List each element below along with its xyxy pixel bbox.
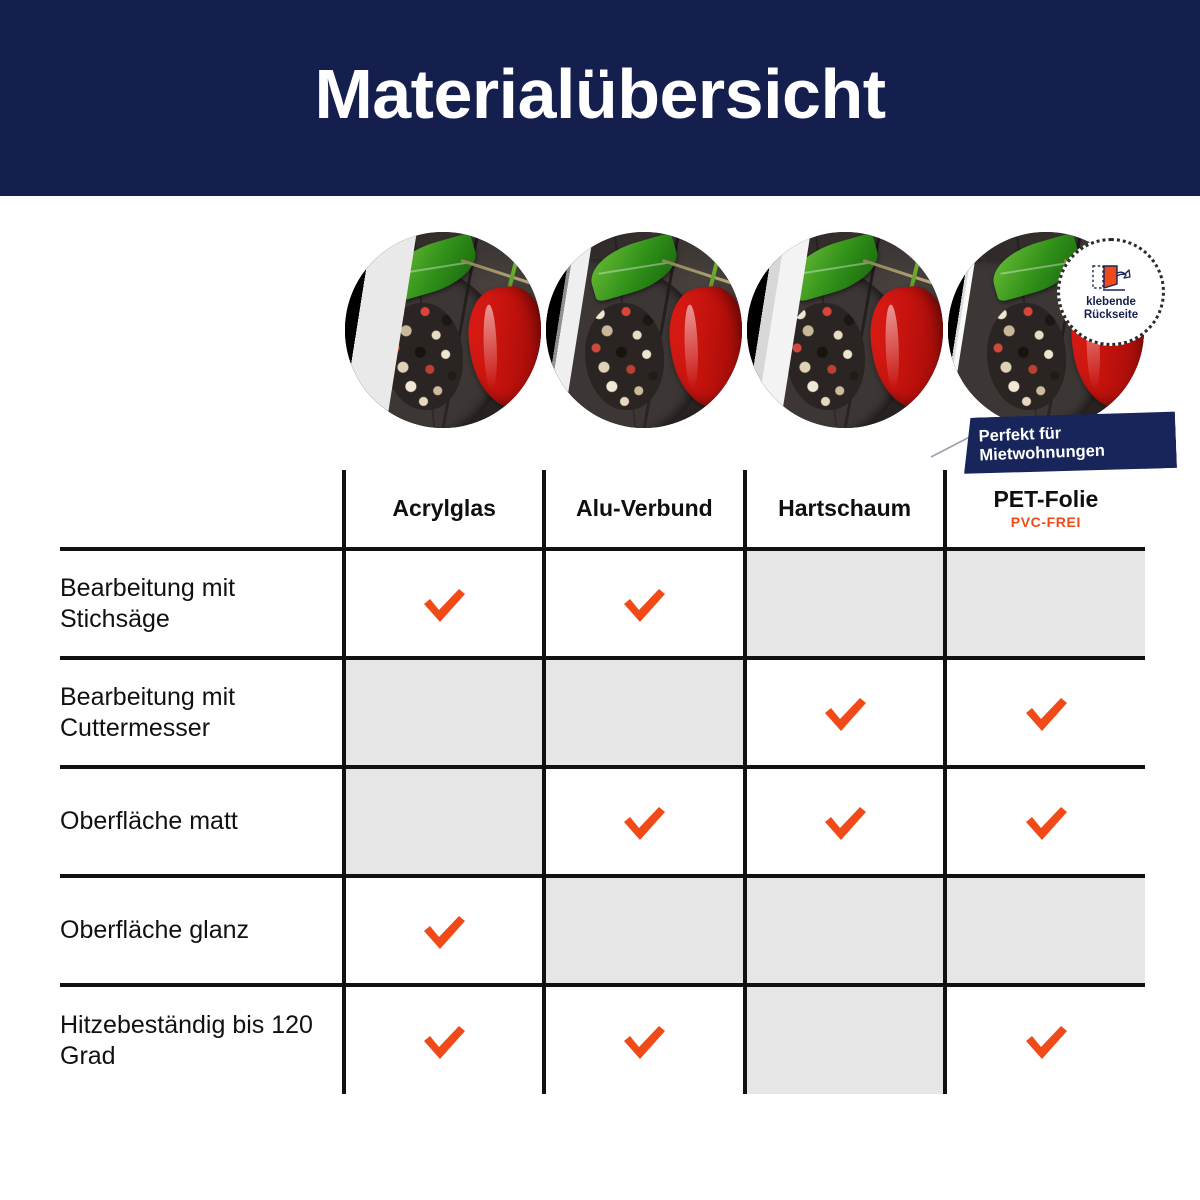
row-label: Oberfläche matt: [60, 767, 344, 876]
cell-acrylglas-row-1: [344, 549, 544, 658]
checkmark-icon: [420, 1021, 468, 1061]
badge-adhesive-line1: klebende: [1086, 296, 1136, 308]
cell-alu-verbund-row-3: [544, 767, 744, 876]
cell-alu-verbund-row-4: [544, 876, 744, 985]
row-label: Oberfläche glanz: [60, 876, 344, 985]
cell-alu-verbund-row-5: [544, 985, 744, 1094]
cell-acrylglas-row-5: [344, 985, 544, 1094]
cell-hartschaum-row-1: [745, 549, 945, 658]
cell-pet-folie-row-2: [945, 658, 1145, 767]
table-header-row: Acrylglas Alu-Verbund Hartschaum PET-Fol…: [60, 470, 1145, 549]
column-title: Acrylglas: [346, 496, 542, 520]
cell-acrylglas-row-4: [344, 876, 544, 985]
row-label: Bearbeitung mit Stichsäge: [60, 549, 344, 658]
table-corner-cell: [60, 470, 344, 549]
peel-adhesive-icon: [1091, 263, 1131, 293]
checkmark-icon: [620, 584, 668, 624]
badge-perfect-for-rentals: Perfekt für Mietwohnungen: [962, 410, 1177, 476]
checkmark-icon: [420, 911, 468, 951]
column-title: Alu-Verbund: [546, 496, 742, 520]
column-header-alu-verbund: Alu-Verbund: [544, 470, 744, 549]
product-image-hartschaum: [747, 232, 943, 428]
thumbnail-hartschaum[interactable]: [747, 232, 943, 428]
page-title: Materialübersicht: [314, 59, 885, 129]
badge-adhesive-label: klebende Rückseite: [1084, 296, 1138, 322]
cell-hartschaum-row-2: [745, 658, 945, 767]
table-header: Acrylglas Alu-Verbund Hartschaum PET-Fol…: [60, 470, 1145, 549]
badge-adhesive-back: klebende Rückseite: [1057, 238, 1165, 346]
thumbnail-alu-verbund[interactable]: [546, 232, 742, 428]
table-row: Bearbeitung mit Cuttermesser: [60, 658, 1145, 767]
badge-adhesive-line2: Rückseite: [1084, 309, 1138, 321]
product-image-acrylglas: [345, 232, 541, 428]
table-row: Hitzebeständig bis 120 Grad: [60, 985, 1145, 1094]
column-title: PET-Folie: [947, 487, 1145, 511]
header-banner: Materialübersicht: [0, 0, 1200, 196]
column-header-acrylglas: Acrylglas: [344, 470, 544, 549]
cell-hartschaum-row-4: [745, 876, 945, 985]
cell-acrylglas-row-2: [344, 658, 544, 767]
column-subtitle-pvc-free: PVC-FREI: [947, 514, 1145, 530]
checkmark-icon: [821, 693, 869, 733]
cell-pet-folie-row-3: [945, 767, 1145, 876]
checkmark-icon: [620, 1021, 668, 1061]
table-body: Bearbeitung mit StichsägeBearbeitung mit…: [60, 549, 1145, 1094]
table-row: Oberfläche glanz: [60, 876, 1145, 985]
cell-pet-folie-row-5: [945, 985, 1145, 1094]
table-row: Oberfläche matt: [60, 767, 1145, 876]
material-overview-page: Materialübersicht: [0, 0, 1200, 1200]
cell-hartschaum-row-3: [745, 767, 945, 876]
column-header-hartschaum: Hartschaum: [745, 470, 945, 549]
cell-pet-folie-row-1: [945, 549, 1145, 658]
checkmark-icon: [1022, 693, 1070, 733]
checkmark-icon: [1022, 1021, 1070, 1061]
cell-alu-verbund-row-1: [544, 549, 744, 658]
material-comparison-table: Acrylglas Alu-Verbund Hartschaum PET-Fol…: [60, 470, 1145, 1094]
column-title: Hartschaum: [747, 496, 943, 520]
cell-pet-folie-row-4: [945, 876, 1145, 985]
product-image-alu-verbund: [546, 232, 742, 428]
thumbnail-acrylglas[interactable]: [345, 232, 541, 428]
cell-alu-verbund-row-2: [544, 658, 744, 767]
cell-acrylglas-row-3: [344, 767, 544, 876]
row-label: Bearbeitung mit Cuttermesser: [60, 658, 344, 767]
checkmark-icon: [620, 802, 668, 842]
checkmark-icon: [420, 584, 468, 624]
checkmark-icon: [821, 802, 869, 842]
cell-hartschaum-row-5: [745, 985, 945, 1094]
row-label: Hitzebeständig bis 120 Grad: [60, 985, 344, 1094]
checkmark-icon: [1022, 802, 1070, 842]
table-row: Bearbeitung mit Stichsäge: [60, 549, 1145, 658]
column-header-pet-folie: PET-Folie PVC-FREI: [945, 470, 1145, 549]
